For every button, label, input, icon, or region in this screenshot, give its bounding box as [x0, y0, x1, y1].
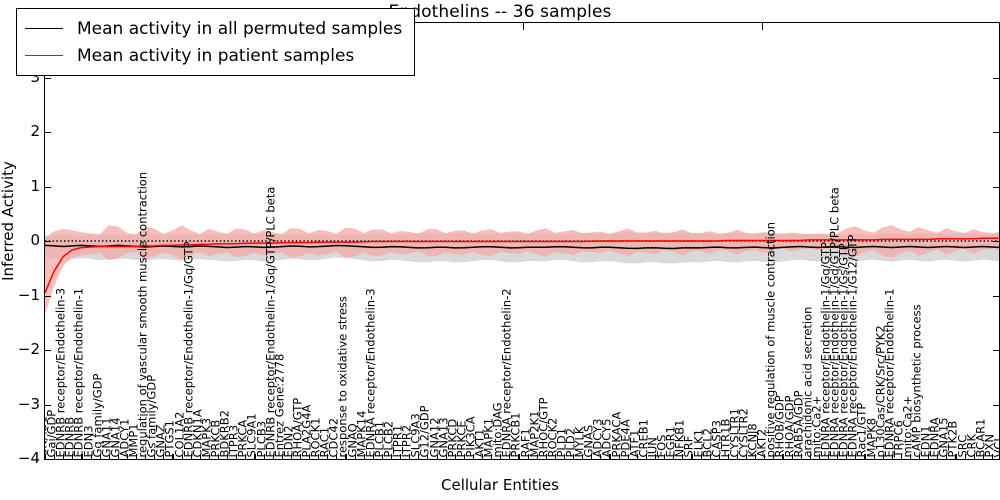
x-tick-mark — [291, 454, 292, 459]
x-tick-mark — [391, 454, 392, 459]
y-tick-mark — [993, 132, 999, 133]
x-tick-mark — [719, 454, 720, 459]
x-tick-mark — [54, 454, 55, 459]
x-tick-mark — [254, 454, 255, 459]
x-tick-mark — [127, 454, 128, 459]
legend-line-black-icon — [25, 28, 63, 29]
x-tick-mark — [200, 454, 201, 459]
x-tick-mark — [764, 454, 765, 459]
x-tick-mark — [919, 454, 920, 459]
x-tick-mark — [746, 454, 747, 459]
x-tick-mark — [218, 454, 219, 459]
y-tick-label: −3 — [0, 395, 40, 413]
y-tick-mark — [993, 296, 999, 297]
y-tick-mark — [45, 241, 51, 242]
x-tick-mark — [983, 454, 984, 459]
x-tick-mark — [701, 454, 702, 459]
x-tick-mark — [528, 454, 529, 459]
x-tick-mark — [828, 454, 829, 459]
x-tick-mark — [582, 454, 583, 459]
x-tick-mark — [63, 454, 64, 459]
x-tick-mark — [45, 454, 46, 459]
x-tick-mark — [892, 454, 893, 459]
y-tick-label: −2 — [0, 340, 40, 358]
x-tick-mark — [491, 454, 492, 459]
x-tick-mark — [965, 454, 966, 459]
x-tick-mark — [646, 454, 647, 459]
x-tick-mark — [427, 454, 428, 459]
x-tick-mark — [437, 454, 438, 459]
chart-legend: Mean activity in all permuted samples Me… — [16, 8, 415, 76]
x-tick-mark — [664, 454, 665, 459]
x-tick-mark — [72, 454, 73, 459]
x-tick-mark — [737, 454, 738, 459]
x-tick-mark — [546, 454, 547, 459]
x-tick-mark — [782, 454, 783, 459]
y-tick-mark — [45, 78, 51, 79]
x-tick-mark — [555, 454, 556, 459]
x-tick-mark — [619, 454, 620, 459]
x-tick-mark — [118, 454, 119, 459]
x-tick-mark — [355, 454, 356, 459]
x-tick-mark — [928, 454, 929, 459]
x-tick-mark — [819, 454, 820, 459]
confidence-band — [45, 225, 1000, 314]
x-tick-mark — [309, 454, 310, 459]
x-tick-mark — [464, 454, 465, 459]
y-tick-mark — [45, 187, 51, 188]
x-tick-mark — [455, 454, 456, 459]
y-tick-mark — [45, 350, 51, 351]
x-tick-mark — [591, 454, 592, 459]
x-tick-mark — [163, 454, 164, 459]
x-tick-mark — [901, 454, 902, 459]
x-tick-mark — [81, 454, 82, 459]
x-tick-mark — [245, 454, 246, 459]
x-tick-mark — [573, 454, 574, 459]
x-tick-mark — [446, 454, 447, 459]
x-tick-mark — [364, 454, 365, 459]
x-tick-mark — [628, 454, 629, 459]
x-tick-mark — [282, 454, 283, 459]
x-tick-mark — [336, 454, 337, 459]
x-tick-mark — [837, 454, 838, 459]
x-tick-mark — [327, 454, 328, 459]
x-tick-mark — [109, 454, 110, 459]
x-tick-mark — [373, 454, 374, 459]
y-tick-label: 1 — [0, 177, 40, 195]
x-tick-mark — [846, 454, 847, 459]
y-tick-mark — [993, 78, 999, 79]
x-tick-mark — [955, 454, 956, 459]
x-tick-mark — [609, 454, 610, 459]
x-tick-mark — [236, 454, 237, 459]
x-tick-mark — [874, 454, 875, 459]
x-tick-mark — [473, 454, 474, 459]
x-tick-mark — [509, 454, 510, 459]
x-tick-mark — [400, 454, 401, 459]
x-tick-mark — [682, 454, 683, 459]
x-tick-mark — [91, 454, 92, 459]
chart-figure: Endothelins -- 36 samples Inferred Activ… — [0, 0, 1000, 500]
x-tick-mark — [655, 454, 656, 459]
x-tick-mark — [755, 454, 756, 459]
x-tick-mark — [691, 454, 692, 459]
x-tick-mark — [172, 454, 173, 459]
x-tick-mark — [564, 454, 565, 459]
x-tick-mark — [145, 454, 146, 459]
x-tick-mark — [209, 454, 210, 459]
x-tick-mark — [318, 454, 319, 459]
x-major-tick-mark — [762, 23, 763, 30]
x-tick-mark — [500, 454, 501, 459]
y-tick-label: −1 — [0, 286, 40, 304]
y-tick-mark — [45, 132, 51, 133]
x-tick-mark — [937, 454, 938, 459]
x-tick-mark — [264, 454, 265, 459]
x-major-tick-mark — [523, 23, 524, 30]
x-tick-mark — [382, 454, 383, 459]
y-tick-mark — [45, 296, 51, 297]
x-tick-mark — [992, 454, 993, 459]
x-tick-mark — [136, 454, 137, 459]
legend-item-patient: Mean activity in patient samples — [25, 42, 402, 69]
x-tick-mark — [728, 454, 729, 459]
legend-item-permuted: Mean activity in all permuted samples — [25, 15, 402, 42]
y-tick-label: −4 — [0, 449, 40, 467]
x-tick-mark — [273, 454, 274, 459]
y-tick-mark — [993, 241, 999, 242]
plot-area: GNAO1Gai/GDPEDNRB receptor/Endothelin-3E… — [44, 22, 1000, 460]
x-axis-label: Cellular Entities — [0, 476, 1000, 494]
y-tick-mark — [993, 350, 999, 351]
x-tick-mark — [600, 454, 601, 459]
x-tick-mark — [801, 454, 802, 459]
x-tick-mark — [710, 454, 711, 459]
legend-line-red-icon — [25, 55, 63, 56]
x-tick-mark — [773, 454, 774, 459]
x-tick-mark — [855, 454, 856, 459]
x-tick-mark — [810, 454, 811, 459]
x-tick-mark — [637, 454, 638, 459]
x-tick-mark — [191, 454, 192, 459]
x-tick-mark — [182, 454, 183, 459]
y-tick-mark — [993, 187, 999, 188]
legend-label-permuted: Mean activity in all permuted samples — [77, 19, 402, 39]
x-tick-mark — [673, 454, 674, 459]
x-tick-mark — [946, 454, 947, 459]
x-tick-mark — [864, 454, 865, 459]
x-tick-mark — [974, 454, 975, 459]
plot-canvas — [45, 23, 1000, 459]
y-tick-mark — [993, 405, 999, 406]
y-tick-label: 0 — [0, 231, 40, 249]
x-tick-mark — [518, 454, 519, 459]
x-tick-mark — [418, 454, 419, 459]
x-tick-mark — [154, 454, 155, 459]
x-tick-mark — [537, 454, 538, 459]
x-tick-mark — [100, 454, 101, 459]
y-tick-label: 2 — [0, 122, 40, 140]
x-tick-mark — [482, 454, 483, 459]
x-tick-mark — [910, 454, 911, 459]
x-tick-mark — [227, 454, 228, 459]
legend-label-patient: Mean activity in patient samples — [77, 46, 354, 66]
x-tick-mark — [883, 454, 884, 459]
x-tick-mark — [300, 454, 301, 459]
x-tick-mark — [792, 454, 793, 459]
x-tick-mark — [345, 454, 346, 459]
x-tick-mark — [409, 454, 410, 459]
y-tick-mark — [45, 405, 51, 406]
